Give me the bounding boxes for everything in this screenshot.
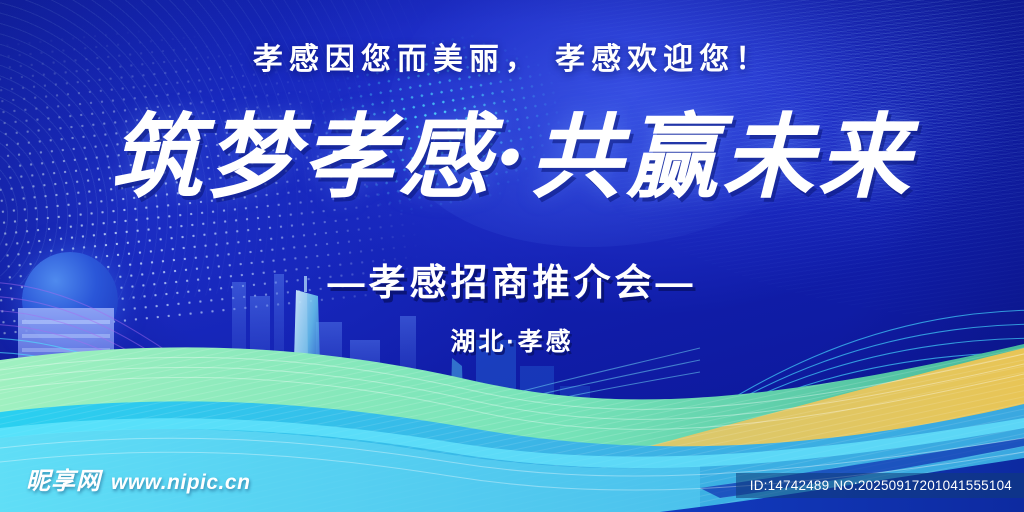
- poster-canvas: 孝感因您而美丽， 孝感欢迎您！ 筑梦孝感·共赢未来 —孝感招商推介会— 湖北·孝…: [0, 0, 1024, 512]
- top-slogan: 孝感因您而美丽， 孝感欢迎您！: [0, 34, 1024, 78]
- watermark-logo-text: 昵享网: [26, 461, 101, 496]
- event-subtitle: —孝感招商推介会—: [0, 252, 1024, 306]
- main-title: 筑梦孝感·共赢未来: [0, 108, 1024, 207]
- image-id-label: ID:14742489 NO:20250917201041555104: [736, 473, 1024, 498]
- watermark: 昵享网 www.nipic.cn: [26, 461, 250, 496]
- event-location: 湖北·孝感: [0, 322, 1024, 358]
- watermark-url: www.nipic.cn: [111, 471, 250, 495]
- text-content-layer: 孝感因您而美丽， 孝感欢迎您！ 筑梦孝感·共赢未来 —孝感招商推介会— 湖北·孝…: [0, 0, 1024, 512]
